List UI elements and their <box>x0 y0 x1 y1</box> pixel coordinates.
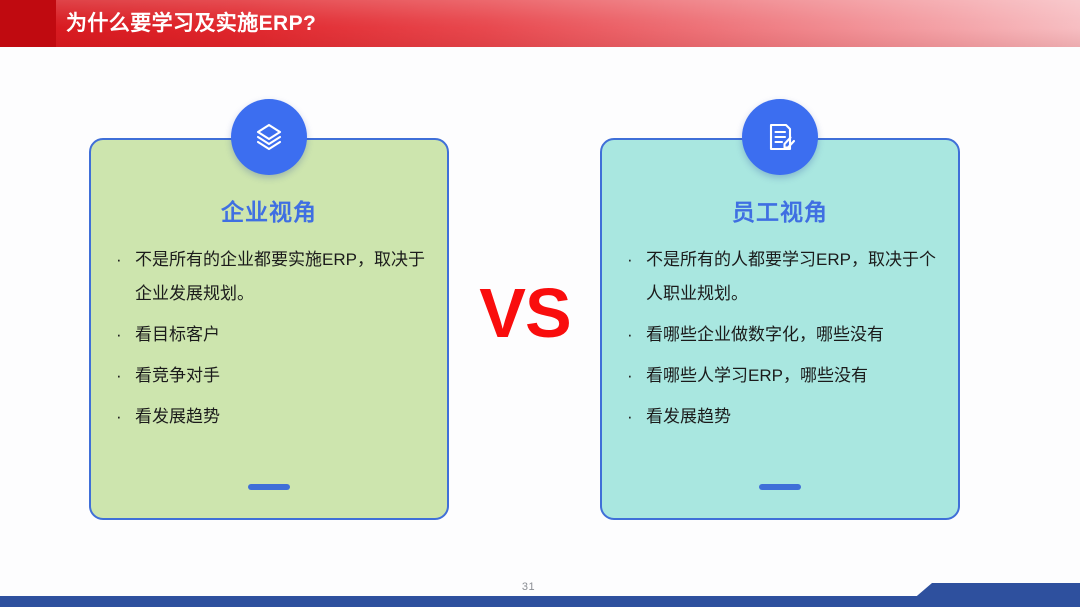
bullet-list-employee: · 不是所有的人都要学习ERP，取决于个人职业规划。 · 看哪些企业做数字化，哪… <box>624 243 944 441</box>
list-item: · 看发展趋势 <box>624 400 944 434</box>
bullet-marker-icon: · <box>624 359 646 393</box>
bullet-marker-icon: · <box>113 400 135 434</box>
list-item: · 不是所有的人都要学习ERP，取决于个人职业规划。 <box>624 243 944 311</box>
card-employee-perspective: 员工视角 · 不是所有的人都要学习ERP，取决于个人职业规划。 · 看哪些企业做… <box>600 138 960 520</box>
bullet-text: 不是所有的人都要学习ERP，取决于个人职业规划。 <box>646 243 944 311</box>
list-item: · 看发展趋势 <box>113 400 433 434</box>
bullet-text: 看竞争对手 <box>135 359 433 393</box>
card-divider-dash-employee <box>759 484 801 490</box>
page-number: 31 <box>0 581 1057 593</box>
list-item: · 看竞争对手 <box>113 359 433 393</box>
bullet-text: 看目标客户 <box>135 318 433 352</box>
bullet-marker-icon: · <box>624 318 646 352</box>
document-edit-icon <box>742 99 818 175</box>
bullet-text: 看哪些人学习ERP，哪些没有 <box>646 359 944 393</box>
bullet-marker-icon: · <box>624 400 646 434</box>
bullet-text: 看发展趋势 <box>646 400 944 434</box>
list-item: · 不是所有的企业都要实施ERP，取决于企业发展规划。 <box>113 243 433 311</box>
bullet-list-enterprise: · 不是所有的企业都要实施ERP，取决于企业发展规划。 · 看目标客户 · 看竞… <box>113 243 433 441</box>
layers-icon <box>231 99 307 175</box>
bullet-marker-icon: · <box>113 359 135 393</box>
list-item: · 看哪些企业做数字化，哪些没有 <box>624 318 944 352</box>
bullet-text: 看哪些企业做数字化，哪些没有 <box>646 318 944 352</box>
bullet-marker-icon: · <box>624 243 646 277</box>
card-divider-dash-enterprise <box>248 484 290 490</box>
bullet-marker-icon: · <box>113 243 135 277</box>
list-item: · 看目标客户 <box>113 318 433 352</box>
card-enterprise-perspective: 企业视角 · 不是所有的企业都要实施ERP，取决于企业发展规划。 · 看目标客户… <box>89 138 449 520</box>
bullet-marker-icon: · <box>113 318 135 352</box>
bullet-text: 不是所有的企业都要实施ERP，取决于企业发展规划。 <box>135 243 433 311</box>
card-title-employee: 员工视角 <box>602 193 958 227</box>
slide-canvas: 为什么要学习及实施ERP? 企业视角 · 不是所有的企业都要实施ERP，取决于企… <box>0 0 1080 607</box>
list-item: · 看哪些人学习ERP，哪些没有 <box>624 359 944 393</box>
header-left-accent-block <box>0 0 56 47</box>
bullet-text: 看发展趋势 <box>135 400 433 434</box>
card-title-enterprise: 企业视角 <box>91 193 447 227</box>
page-title: 为什么要学习及实施ERP? <box>66 7 316 40</box>
versus-label: VS <box>462 272 588 354</box>
